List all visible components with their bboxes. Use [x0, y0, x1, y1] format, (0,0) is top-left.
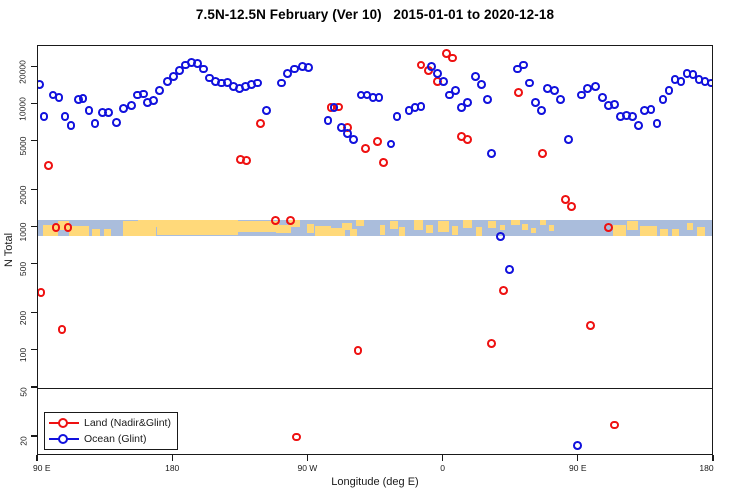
data-point-ocean [659, 95, 668, 104]
data-point-ocean [505, 265, 514, 274]
map-landmass [463, 220, 472, 228]
y-tick-label: 10000 [23, 97, 33, 121]
y-tick-label: 5000 [23, 136, 33, 155]
x-tick-label: 90 E [569, 463, 587, 473]
x-tick-label: 0 [440, 463, 445, 473]
legend-label: Land (Nadir&Glint) [84, 417, 171, 429]
data-point-land [271, 216, 280, 225]
x-tick-label: 180 [699, 463, 713, 473]
map-landmass [307, 224, 314, 234]
data-point-ocean [304, 63, 313, 72]
data-point-ocean [262, 106, 271, 115]
map-landmass [540, 220, 547, 225]
map-landmass [426, 225, 433, 233]
data-point-ocean [451, 86, 460, 95]
data-point-ocean [556, 95, 565, 104]
map-landmass [672, 229, 679, 235]
data-point-ocean [375, 93, 384, 102]
map-landmass [531, 228, 535, 233]
data-point-ocean [573, 441, 582, 450]
data-point-ocean [707, 79, 713, 88]
map-landmass [613, 225, 627, 236]
y-tick-label: 2000 [23, 185, 33, 204]
chart-title: 7.5N-12.5N February (Ver 10) 2015-01-01 … [0, 7, 750, 22]
x-tick [172, 455, 173, 461]
y-tick-label: 20000 [23, 60, 33, 84]
data-point-ocean [471, 72, 480, 81]
data-point-ocean [531, 98, 540, 107]
map-landmass [438, 221, 449, 232]
legend-label: Ocean (Glint) [84, 433, 146, 445]
data-point-land [538, 149, 547, 158]
x-axis-title: Longitude (deg E) [37, 476, 713, 488]
data-point-ocean [439, 77, 448, 86]
data-point-ocean [91, 119, 100, 128]
x-tick [307, 455, 308, 461]
data-point-land [567, 202, 576, 211]
data-point-ocean [463, 98, 472, 107]
plot-area [37, 45, 713, 455]
map-landmass [452, 226, 459, 235]
map-landmass [380, 225, 385, 235]
data-point-ocean [104, 108, 113, 117]
data-point-ocean [112, 118, 121, 127]
map-landmass [356, 220, 364, 226]
data-point-ocean [253, 79, 262, 88]
data-point-ocean [537, 106, 546, 115]
data-point-ocean [598, 93, 607, 102]
map-landmass [104, 229, 111, 235]
data-point-ocean [40, 112, 49, 121]
data-point-ocean [393, 112, 402, 121]
data-point-ocean [199, 65, 208, 74]
data-point-ocean [677, 77, 686, 86]
data-point-ocean [653, 119, 662, 128]
map-landmass [157, 220, 238, 235]
map-landmass [627, 221, 638, 230]
data-point-ocean [37, 80, 44, 89]
data-point-land [373, 137, 382, 146]
chart-root: 7.5N-12.5N February (Ver 10) 2015-01-01 … [0, 0, 750, 500]
data-point-ocean [277, 79, 286, 88]
data-point-ocean [496, 232, 505, 241]
data-point-ocean [610, 100, 619, 109]
data-point-land [354, 346, 363, 355]
map-landmass [350, 229, 357, 236]
data-point-ocean [564, 135, 573, 144]
data-point-ocean [550, 86, 559, 95]
map-landmass [123, 221, 155, 235]
map-landmass [522, 224, 528, 230]
data-point-ocean [55, 93, 64, 102]
data-point-land [292, 433, 301, 442]
reference-line [38, 388, 713, 389]
y-tick-label: 200 [23, 311, 33, 325]
x-tick-label: 90 W [297, 463, 317, 473]
x-tick [577, 455, 578, 461]
map-landmass [640, 226, 658, 236]
map-landmass [488, 221, 495, 227]
data-point-land [242, 156, 251, 165]
map-landmass [500, 225, 505, 231]
y-axis: 20501002005001000200050001000020000 [0, 45, 37, 455]
data-point-ocean [387, 140, 396, 149]
x-tick-label: 90 E [33, 463, 51, 473]
data-point-ocean [634, 121, 643, 130]
y-tick-label: 50 [23, 387, 33, 396]
data-point-ocean [477, 80, 486, 89]
map-landmass [549, 225, 554, 231]
y-tick-label: 500 [23, 262, 33, 276]
data-point-land [44, 161, 53, 170]
legend-marker-icon [49, 433, 79, 445]
data-point-ocean [67, 121, 76, 130]
legend-entry: Ocean (Glint) [49, 432, 171, 446]
data-point-ocean [519, 61, 528, 70]
data-point-ocean [324, 116, 333, 125]
map-landmass [511, 220, 520, 226]
map-landmass [687, 223, 693, 230]
data-point-ocean [349, 135, 358, 144]
data-point-ocean [591, 82, 600, 91]
data-point-land [286, 216, 295, 225]
map-landmass [390, 221, 398, 229]
data-point-land [448, 54, 457, 63]
map-landmass [414, 220, 423, 230]
data-point-land [37, 288, 45, 297]
data-point-ocean [330, 103, 339, 112]
map-landmass [399, 227, 405, 236]
chart-legend: Land (Nadir&Glint)Ocean (Glint) [44, 412, 178, 450]
data-point-ocean [647, 105, 656, 114]
data-point-ocean [665, 86, 674, 95]
data-point-land [514, 88, 523, 97]
y-tick-label: 100 [23, 348, 33, 362]
x-tick-label: 180 [165, 463, 179, 473]
legend-marker-icon [49, 417, 79, 429]
data-point-ocean [628, 112, 637, 121]
map-landmass [660, 229, 668, 236]
data-point-ocean [85, 106, 94, 115]
y-tick-label: 1000 [23, 222, 33, 241]
data-point-land [487, 339, 496, 348]
data-point-land [610, 421, 619, 430]
data-point-land [586, 321, 595, 330]
data-point-land [361, 144, 370, 153]
map-landmass [315, 226, 331, 236]
x-tick [442, 455, 443, 461]
map-landmass [92, 229, 100, 236]
data-point-ocean [149, 96, 158, 105]
data-point-land [256, 119, 265, 128]
y-tick-label: 20 [23, 436, 33, 445]
map-landmass [476, 227, 482, 236]
x-tick [36, 455, 37, 461]
data-point-ocean [127, 101, 136, 110]
data-point-ocean [525, 79, 534, 88]
legend-entry: Land (Nadir&Glint) [49, 416, 171, 430]
data-point-ocean [483, 95, 492, 104]
data-point-ocean [79, 94, 88, 103]
x-tick [712, 455, 713, 461]
map-landmass [69, 226, 89, 236]
data-point-land [463, 135, 472, 144]
data-point-land [379, 158, 388, 167]
data-point-land [499, 286, 508, 295]
data-point-land [58, 325, 67, 334]
data-point-ocean [417, 102, 426, 111]
map-landmass [697, 227, 705, 236]
data-point-ocean [61, 112, 70, 121]
data-point-ocean [155, 86, 164, 95]
data-point-ocean [487, 149, 496, 158]
